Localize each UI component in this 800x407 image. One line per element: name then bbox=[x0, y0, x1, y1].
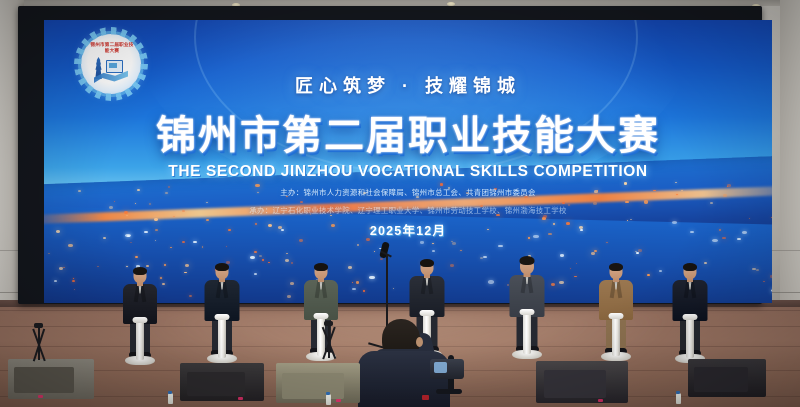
light-tripod bbox=[312, 321, 346, 359]
event-slogan: 匠心筑梦 · 技耀锦城 bbox=[44, 72, 772, 98]
water-bottle bbox=[326, 394, 331, 405]
water-bottle bbox=[676, 393, 681, 404]
person-hair bbox=[133, 267, 147, 275]
led-title-block: 匠心筑梦 · 技耀锦城 锦州市第二届职业技能大赛 THE SECOND JINZ… bbox=[44, 20, 772, 239]
person-hair bbox=[683, 263, 697, 271]
event-organizer-line: 主办：锦州市人力资源和社会保障局、锦州市总工会、共青团锦州市委员会 bbox=[44, 188, 772, 199]
podium-stand bbox=[510, 309, 544, 359]
person-hair bbox=[609, 263, 623, 271]
videographer bbox=[352, 315, 472, 407]
podium-stand bbox=[123, 317, 157, 365]
water-bottle bbox=[168, 393, 173, 404]
podium-stand bbox=[205, 314, 239, 363]
floor-monitor-speaker bbox=[536, 357, 628, 403]
event-coorganizer-line: 承办：辽宁石化职业技术学院、辽宁理工职业大学、锦州市劳动技工学校、锦州渤海技工学… bbox=[44, 206, 772, 217]
floor-monitor-speaker bbox=[8, 355, 94, 399]
event-english-title: THE SECOND JINZHOU VOCATIONAL SKILLS COM… bbox=[44, 163, 772, 181]
person-hair bbox=[314, 263, 328, 271]
floor-monitor-speaker bbox=[276, 359, 360, 403]
person-hair bbox=[420, 259, 434, 267]
wall-right-column bbox=[780, 0, 800, 330]
floor-monitor-speaker bbox=[688, 355, 766, 397]
podium-stand bbox=[599, 313, 633, 361]
event-main-title: 锦州市第二届职业技能大赛 bbox=[44, 103, 772, 161]
person-hair bbox=[215, 263, 229, 271]
person-hair bbox=[520, 256, 535, 265]
floor-monitor-speaker bbox=[180, 359, 264, 401]
light-tripod bbox=[22, 323, 56, 361]
stage-ceremony-photo: 锦州市第二届职业技能大赛 匠心筑梦 · 技耀锦城 锦州市第二届职业技能大赛 TH… bbox=[0, 0, 800, 407]
